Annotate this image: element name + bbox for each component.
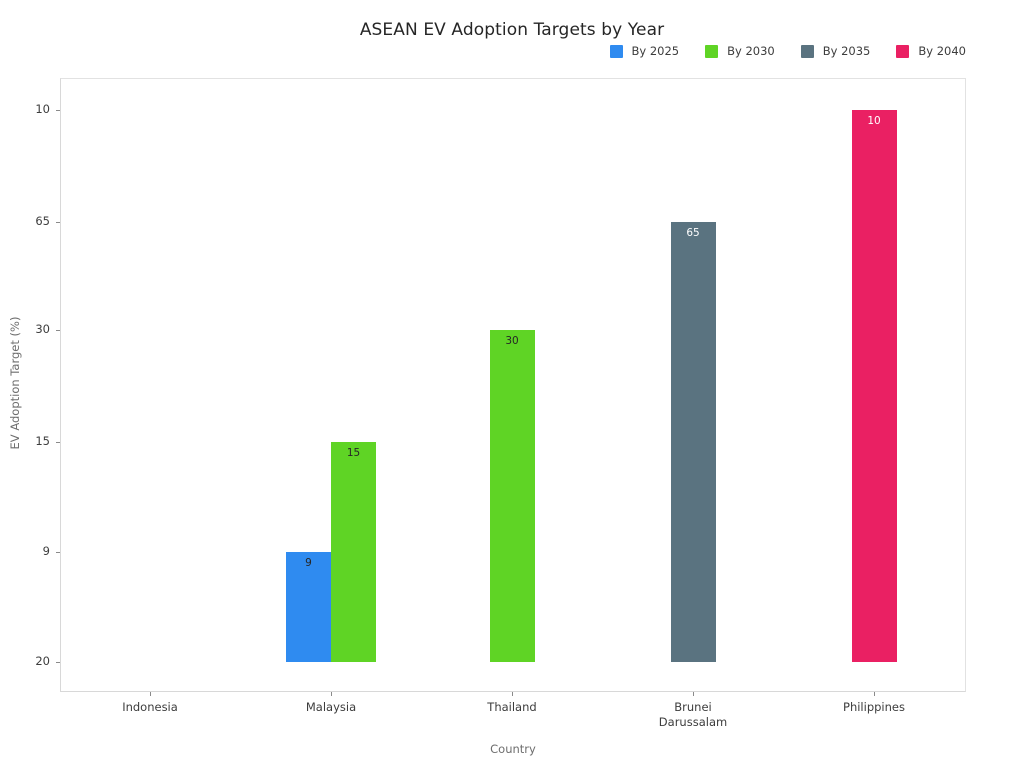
bar[interactable]: 10 — [852, 110, 897, 662]
x-tick-mark — [331, 692, 332, 696]
legend-item-by-2025[interactable]: By 2025 — [610, 44, 680, 58]
y-tick-label: 65 — [0, 214, 50, 228]
y-axis-label: EV Adoption Target (%) — [8, 103, 22, 663]
legend-swatch-icon — [705, 45, 718, 58]
x-tick-label: BruneiDarussalam — [613, 700, 773, 730]
y-tick-mark — [56, 662, 60, 663]
bar-value-label: 65 — [671, 227, 716, 239]
bar[interactable]: 30 — [490, 330, 535, 662]
y-tick-mark — [56, 442, 60, 443]
y-tick-mark — [56, 222, 60, 223]
x-tick-mark — [512, 692, 513, 696]
chart-title: ASEAN EV Adoption Targets by Year — [0, 20, 1024, 40]
chart-figure: ASEAN EV Adoption Targets by Year By 202… — [0, 0, 1024, 768]
y-tick-mark — [56, 110, 60, 111]
y-tick-label: 10 — [0, 102, 50, 116]
x-tick-mark — [874, 692, 875, 696]
legend-swatch-icon — [610, 45, 623, 58]
y-tick-mark — [56, 330, 60, 331]
x-tick-label: Indonesia — [70, 700, 230, 715]
bar-value-label: 9 — [286, 557, 331, 569]
x-tick-label: Malaysia — [251, 700, 411, 715]
legend-label: By 2035 — [823, 44, 871, 58]
y-tick-label: 15 — [0, 434, 50, 448]
legend-item-by-2040[interactable]: By 2040 — [896, 44, 966, 58]
legend-label: By 2030 — [727, 44, 775, 58]
legend-swatch-icon — [896, 45, 909, 58]
bar-value-label: 15 — [331, 447, 376, 459]
y-tick-mark — [56, 552, 60, 553]
bar[interactable]: 15 — [331, 442, 376, 662]
legend-item-by-2030[interactable]: By 2030 — [705, 44, 775, 58]
legend-label: By 2025 — [632, 44, 680, 58]
legend-item-by-2035[interactable]: By 2035 — [801, 44, 871, 58]
y-tick-label: 9 — [0, 544, 50, 558]
bar[interactable]: 9 — [286, 552, 331, 662]
bar-value-label: 30 — [490, 335, 535, 347]
x-tick-label: Philippines — [794, 700, 954, 715]
y-tick-label: 20 — [0, 654, 50, 668]
chart-legend: By 2025 By 2030 By 2035 By 2040 — [610, 44, 967, 58]
bar-value-label: 10 — [852, 115, 897, 127]
legend-swatch-icon — [801, 45, 814, 58]
x-tick-label: Thailand — [432, 700, 592, 715]
bar[interactable]: 65 — [671, 222, 716, 662]
legend-label: By 2040 — [918, 44, 966, 58]
x-axis-label: Country — [60, 742, 966, 756]
x-tick-mark — [693, 692, 694, 696]
y-tick-label: 30 — [0, 322, 50, 336]
x-tick-mark — [150, 692, 151, 696]
